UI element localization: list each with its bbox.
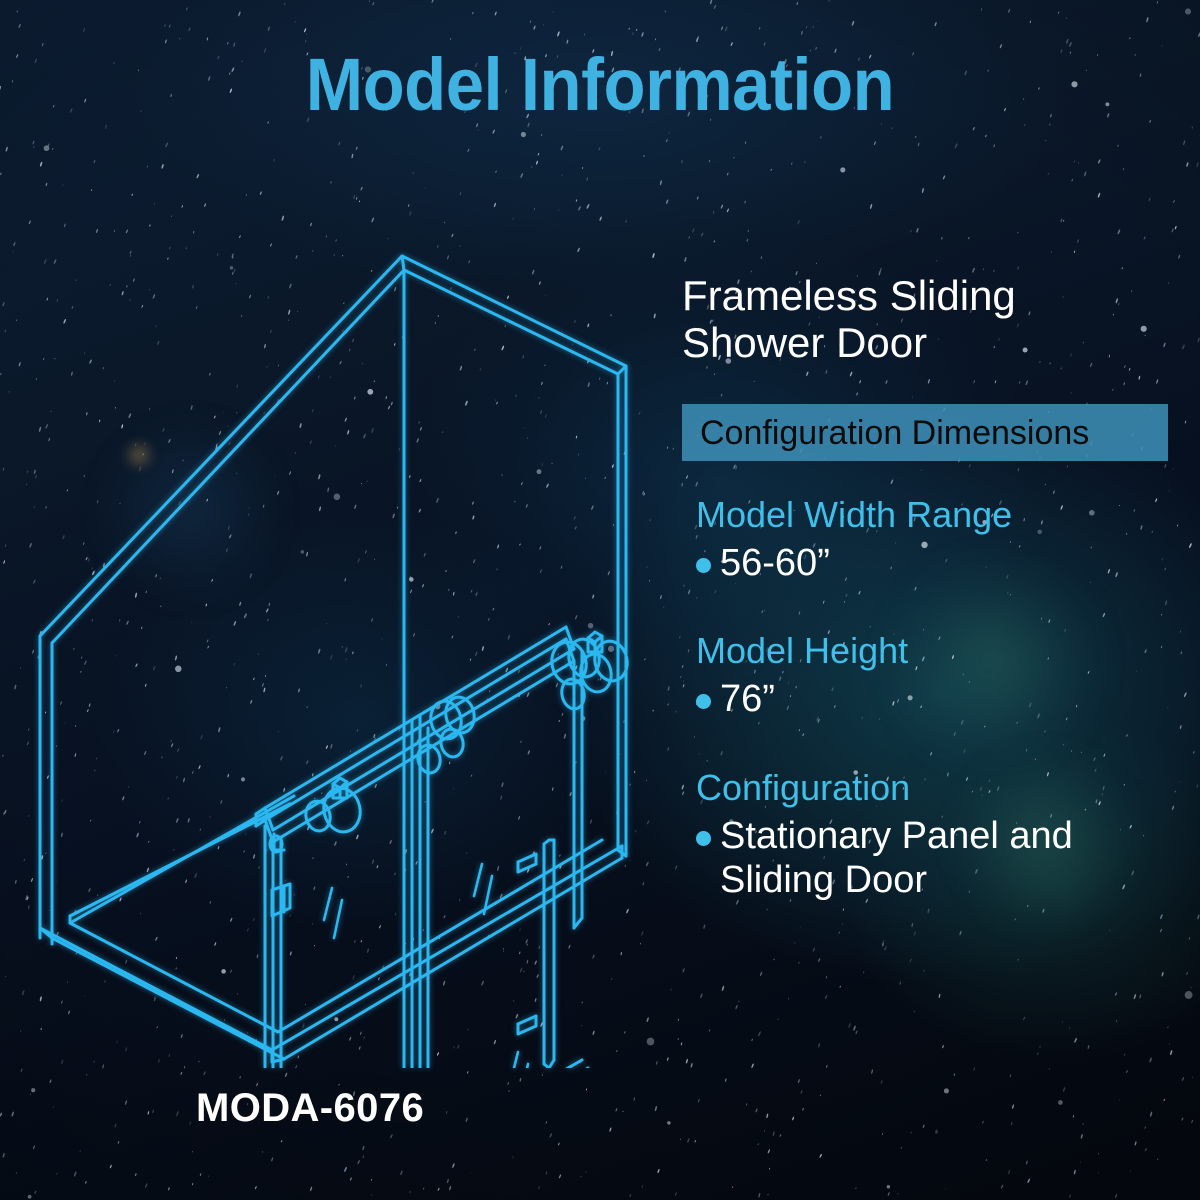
configuration-dimensions-bar: Configuration Dimensions (682, 404, 1168, 461)
shower-base-pan (40, 708, 622, 1062)
spec-label-model-height: Model Height (696, 631, 1182, 671)
spec-label-configuration: Configuration (696, 768, 1182, 808)
model-info-panel: Frameless Sliding Shower Door Configurat… (682, 272, 1182, 903)
bullet-icon (696, 831, 711, 846)
spec-value-model-width-range: 56-60” (720, 541, 830, 586)
spec-group-configuration: Configuration Stationary Panel and Slidi… (682, 768, 1182, 903)
enclosure-walls (40, 256, 626, 944)
glass-highlight-marks (324, 864, 528, 1068)
shower-door-diagram (22, 238, 662, 1068)
bullet-icon (696, 694, 711, 709)
spec-item-configuration: Stationary Panel and Sliding Door (696, 814, 1182, 904)
spec-group-height: Model Height 76” (682, 631, 1182, 721)
model-code-label: MODA-6076 (196, 1086, 424, 1131)
spec-value-configuration: Stationary Panel and Sliding Door (720, 814, 1073, 904)
spec-label-model-width-range: Model Width Range (696, 495, 1182, 535)
spec-item-model-height: 76” (696, 677, 1182, 722)
spec-item-model-width-range: 56-60” (696, 541, 1182, 586)
section-bar-label: Configuration Dimensions (700, 416, 1089, 450)
page-title: Model Information (42, 48, 1158, 122)
spec-group-width: Model Width Range 56-60” (682, 495, 1182, 585)
spec-value-model-height: 76” (720, 677, 775, 722)
vertical-door-handle (518, 840, 554, 1068)
base-floor-lines (52, 796, 622, 938)
product-name: Frameless Sliding Shower Door (682, 272, 1182, 366)
model-information-page: Model Information (0, 0, 1200, 1200)
bullet-icon (696, 558, 711, 573)
